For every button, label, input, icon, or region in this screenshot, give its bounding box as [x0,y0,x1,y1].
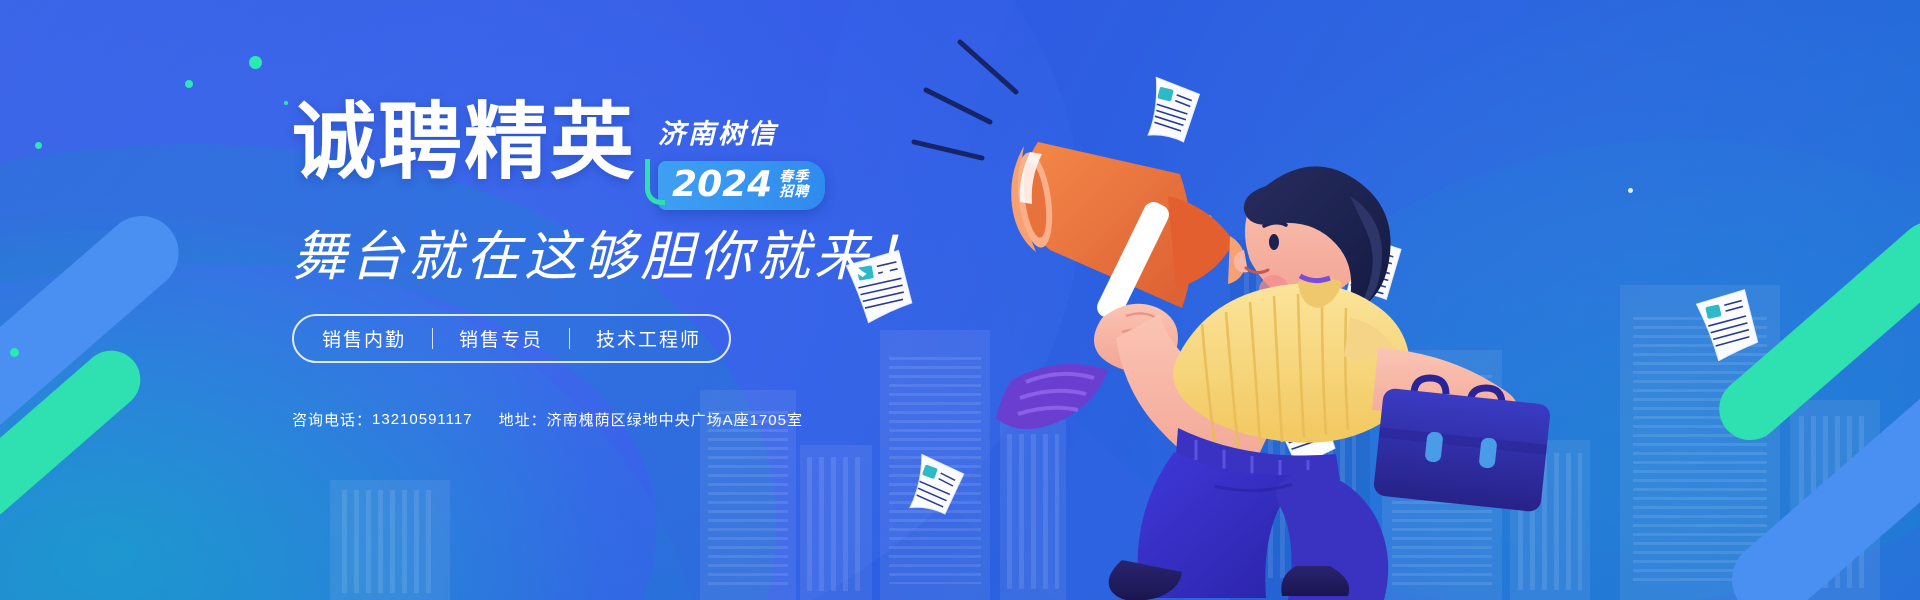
megaphone-icon [1011,142,1246,323]
page-subtitle: 舞台就在这够胆你就来！ [292,226,992,288]
job-tags-pill: 销售内勤 销售专员 技术工程师 [292,314,731,363]
decorative-dot-white [1628,188,1633,193]
badge-season: 春季 [779,170,809,185]
recruitment-banner: 诚聘精英 济南树信 2024 春季 招聘 舞台就在这够胆你就来！ 销售内勤 [0,0,1920,600]
briefcase-icon [1373,378,1551,512]
phone-value[interactable]: 13210591117 [372,411,473,428]
company-brand: 济南树信 [658,112,778,151]
job-tag-sales-specialist[interactable]: 销售专员 [459,325,543,352]
decorative-dot-teal [185,80,193,88]
badge-action: 招聘 [779,185,809,200]
decorative-dot-teal [284,101,288,105]
decorative-dot-teal [249,56,262,69]
badge-year: 2024 [672,166,772,204]
job-tag-sales-assistant[interactable]: 销售内勤 [322,325,406,352]
phone-label: 咨询电话： [292,409,372,430]
decorative-dot-teal [35,142,42,149]
address-value: 济南槐荫区绿地中央广场A座1705室 [547,409,803,430]
badge-hook-accent [645,159,665,205]
contact-info: 咨询电话： 13210591117 地址： 济南槐荫区绿地中央广场A座1705室 [292,409,803,430]
copy-block: 诚聘精英 济南树信 2024 春季 招聘 舞台就在这够胆你就来！ 销售内勤 [292,96,992,363]
page-title: 诚聘精英 [292,96,636,188]
tag-divider [569,328,570,349]
skyline-building [330,480,450,600]
job-tag-technical-engineer[interactable]: 技术工程师 [596,325,701,352]
address-label: 地址： [499,409,547,430]
decorative-dot-teal [10,348,19,357]
tag-divider [432,328,433,349]
campaign-badge: 2024 春季 招聘 [658,161,825,210]
